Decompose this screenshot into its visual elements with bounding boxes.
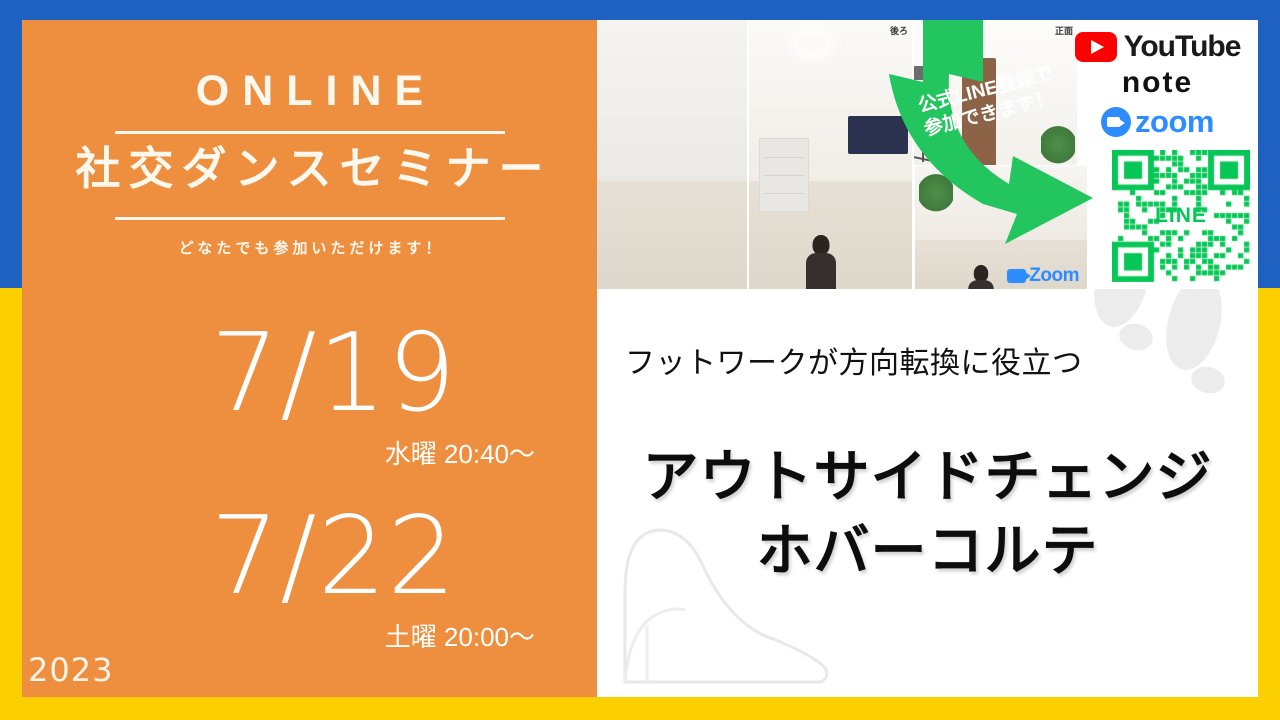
date-time-2: 土曜 20:00〜: [22, 617, 597, 654]
seminar-subtitle: どなたでも参加いただけます！: [22, 237, 597, 258]
seminar-header: ONLINE 社交ダンスセミナー どなたでも参加いただけます！: [22, 20, 597, 258]
youtube-label: YouTube: [1124, 30, 1241, 64]
zoom-inset-badge-text: Zoom: [1029, 265, 1079, 287]
kicker-online: ONLINE: [22, 67, 597, 116]
platform-logos: YouTube note zoom: [1065, 30, 1250, 140]
note-logo[interactable]: note: [1065, 64, 1250, 100]
left-orange-panel: ONLINE 社交ダンスセミナー どなたでも参加いただけます！ 7/19 水曜 …: [22, 20, 597, 697]
frame-top-blue: [0, 0, 1280, 20]
zoom-camera-icon-large: [1101, 107, 1131, 137]
ceiling-lamp-icon: [797, 34, 827, 52]
zoom-label: zoom: [1135, 104, 1214, 140]
right-white-panel: 後ろ 正面: [597, 20, 1258, 697]
lead-text: フットワークが方向転換に役立つ: [625, 338, 1083, 382]
note-label: note: [1122, 66, 1193, 100]
seminar-poster: ONLINE 社交ダンスセミナー どなたでも参加いただけます！ 7/19 水曜 …: [0, 0, 1280, 720]
lesson-title: アウトサイドチェンジ ホバーコルテ: [597, 440, 1258, 588]
zoom-inset-video: Zoom: [914, 165, 1088, 289]
line-qr-code[interactable]: LINE: [1112, 150, 1250, 282]
frame-right-yellow: [1258, 288, 1280, 720]
date-entry-2: 7/22 土曜 20:00〜: [22, 503, 597, 654]
video-tile-rear: 後ろ: [747, 20, 914, 289]
dresser-icon: [759, 138, 809, 212]
door-icon: [962, 58, 996, 166]
date-list: 7/19 水曜 20:40〜 7/22 土曜 20:00〜: [22, 320, 597, 654]
floor-a: [597, 181, 747, 289]
frame-left-blue: [0, 0, 22, 288]
tv-icon: [848, 116, 908, 154]
youtube-logo[interactable]: YouTube: [1065, 30, 1250, 64]
date-time-1: 水曜 20:40〜: [22, 434, 597, 471]
lesson-title-line1: アウトサイドチェンジ: [643, 445, 1213, 508]
zoom-inset-badge: Zoom: [1007, 265, 1079, 287]
lesson-title-line2: ホバーコルテ: [597, 514, 1258, 588]
year-label: 2023: [28, 651, 113, 689]
header-rule-bottom: [115, 217, 505, 220]
tripod-icon: [922, 82, 924, 162]
zoom-camera-icon: [1007, 269, 1026, 283]
frame-left-yellow: [0, 288, 22, 720]
date-value-1: 7/19: [22, 320, 597, 428]
date-value-2: 7/22: [22, 503, 597, 611]
qr-line-label: LINE: [1155, 204, 1207, 228]
video-tile-left: [597, 20, 747, 289]
date-entry-1: 7/19 水曜 20:40〜: [22, 320, 597, 471]
plant-icon-inset: [919, 172, 953, 218]
zoom-logo[interactable]: zoom: [1065, 104, 1250, 140]
youtube-play-icon: [1075, 32, 1117, 62]
seminar-title: 社交ダンスセミナー: [22, 134, 597, 203]
video-label-rear: 後ろ: [890, 24, 908, 37]
frame-bottom-yellow: [0, 697, 1280, 720]
video-screenshot-strip: 後ろ 正面: [597, 20, 1258, 289]
frame-right-blue: [1258, 0, 1280, 288]
